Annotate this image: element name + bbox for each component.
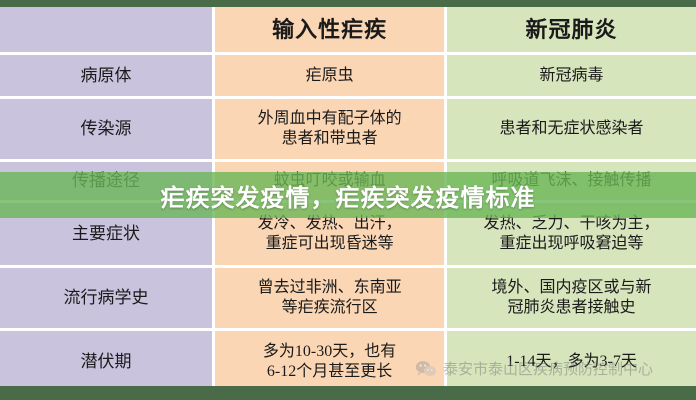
top-edge-bar — [0, 0, 696, 7]
table-header-row: 输入性疟疾 新冠肺炎 — [0, 7, 696, 52]
row-label-incubation: 潜伏期 — [0, 331, 212, 393]
cell-malaria-epi-history: 曾去过非洲、东南亚 等疟疾流行区 — [215, 268, 444, 328]
watermark-text: 泰安市泰山区疾病预防控制中心 — [443, 358, 653, 379]
row-label-epi-history: 流行病学史 — [0, 268, 212, 328]
row-label-pathogen: 病原体 — [0, 55, 212, 96]
cell-malaria-pathogen: 疟原虫 — [215, 55, 444, 96]
table-row: 传染源 外周血中有配子体的 患者和带虫者 患者和无症状感染者 — [0, 99, 696, 159]
overlay-title-text: 疟疾突发疫情，疟疾突发疫情标准 — [161, 178, 536, 213]
header-col-malaria: 输入性疟疾 — [215, 7, 444, 52]
table-row: 病原体 疟原虫 新冠病毒 — [0, 55, 696, 96]
row-label-source: 传染源 — [0, 99, 212, 159]
header-col-covid: 新冠肺炎 — [447, 7, 696, 52]
cell-malaria-incubation: 多为10-30天，也有 6-12个月甚至更长 — [215, 331, 444, 393]
cell-covid-source: 患者和无症状感染者 — [447, 99, 696, 159]
wechat-icon — [415, 360, 437, 378]
cell-covid-epi-history: 境外、国内疫区或与新 冠肺炎患者接触史 — [447, 268, 696, 328]
cell-malaria-source: 外周血中有配子体的 患者和带虫者 — [215, 99, 444, 159]
title-overlay-banner: 疟疾突发疫情，疟疾突发疫情标准 — [0, 172, 696, 218]
table-row: 流行病学史 曾去过非洲、东南亚 等疟疾流行区 境外、国内疫区或与新 冠肺炎患者接… — [0, 268, 696, 328]
cell-covid-pathogen: 新冠病毒 — [447, 55, 696, 96]
header-corner-cell — [0, 7, 212, 52]
bottom-edge-bar — [0, 386, 696, 400]
watermark: 泰安市泰山区疾病预防控制中心 — [415, 358, 653, 379]
document-page: 输入性疟疾 新冠肺炎 病原体 疟原虫 新冠病毒 传染源 外周血中有配子体的 患者… — [0, 0, 696, 400]
